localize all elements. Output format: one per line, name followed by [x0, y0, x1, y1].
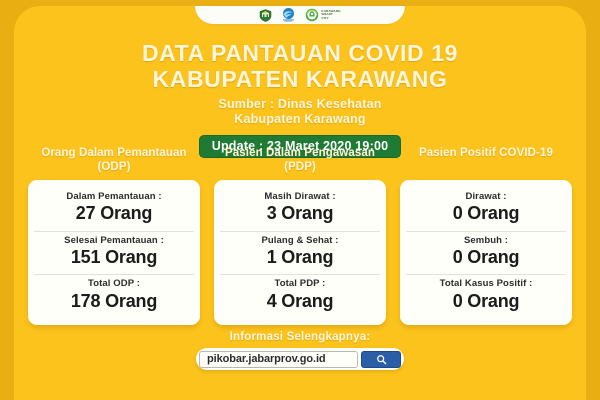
search-icon: [376, 354, 387, 365]
stat-label: Masih Dirawat :: [220, 191, 380, 202]
stat-label: Total Kasus Positif :: [406, 278, 566, 289]
stat-value: 178 Orang: [34, 291, 194, 312]
stat-value: 3 Orang: [220, 203, 380, 224]
stat-value: 0 Orang: [406, 203, 566, 224]
karawang-smart-city-caption: KARAWANG SMART CITY: [321, 10, 340, 20]
stat-label: Total ODP :: [34, 278, 194, 289]
column-odp-heading: Orang Dalam Pemantauan (ODP): [28, 146, 200, 176]
poster-title-line1: DATA PANTAUAN COVID 19: [14, 40, 586, 66]
stat-item-total: Total Kasus Positif : 0 Orang: [406, 274, 566, 316]
column-pdp: Pasien Dalam Pengawasan (PDP) Masih Dira…: [214, 146, 386, 325]
stat-label: Total PDP :: [220, 278, 380, 289]
logo-bar: KARAWANG SMART CITY: [195, 6, 405, 24]
stat-item: Pulang & Sehat : 1 Orang: [220, 231, 380, 273]
stat-item: Dalam Pemantauan : 27 Orang: [34, 188, 194, 229]
stat-value: 0 Orang: [406, 247, 566, 268]
stat-item-total: Total PDP : 4 Orang: [220, 274, 380, 316]
footer-label: Informasi Selengkapnya:: [14, 331, 586, 343]
column-positif-panel: Dirawat : 0 Orang Sembuh : 0 Orang Total…: [400, 180, 572, 325]
poster-card: KARAWANG SMART CITY DATA PANTAUAN COVID …: [14, 6, 586, 400]
search-input[interactable]: pikobar.jabarprov.go.id: [199, 351, 358, 368]
stat-value: 151 Orang: [34, 247, 194, 268]
poster-title-line2: KABUPATEN KARAWANG: [14, 66, 586, 92]
stat-item: Selesai Pemantauan : 151 Orang: [34, 231, 194, 273]
search-bar[interactable]: pikobar.jabarprov.go.id: [196, 348, 404, 370]
stat-value: 4 Orang: [220, 291, 380, 312]
title-block: DATA PANTAUAN COVID 19 KABUPATEN KARAWAN…: [14, 40, 586, 158]
stats-columns: Orang Dalam Pemantauan (ODP) Dalam Peman…: [28, 146, 572, 325]
kabupaten-karawang-emblem-icon: [259, 9, 272, 22]
stat-value: 27 Orang: [34, 203, 194, 224]
karawang-smart-city-logo-icon: KARAWANG SMART CITY: [305, 8, 340, 22]
footer-block: Informasi Selengkapnya: pikobar.jabarpro…: [14, 331, 586, 370]
column-positif-heading: Pasien Positif COVID-19: [419, 146, 553, 176]
stat-item-total: Total ODP : 178 Orang: [34, 274, 194, 316]
stat-value: 1 Orang: [220, 247, 380, 268]
stat-item: Sembuh : 0 Orang: [406, 231, 566, 273]
stat-item: Dirawat : 0 Orang: [406, 188, 566, 229]
pemda-wave-logo-icon: [281, 7, 296, 22]
column-positif: Pasien Positif COVID-19 Dirawat : 0 Oran…: [400, 146, 572, 325]
column-odp: Orang Dalam Pemantauan (ODP) Dalam Peman…: [28, 146, 200, 325]
source-line-1: Sumber : Dinas Kesehatan: [14, 97, 586, 112]
column-odp-panel: Dalam Pemantauan : 27 Orang Selesai Pema…: [28, 180, 200, 325]
column-pdp-panel: Masih Dirawat : 3 Orang Pulang & Sehat :…: [214, 180, 386, 325]
column-pdp-heading: Pasien Dalam Pengawasan (PDP): [214, 146, 386, 176]
stat-label: Dirawat :: [406, 191, 566, 202]
stat-item: Masih Dirawat : 3 Orang: [220, 188, 380, 229]
stat-label: Selesai Pemantauan :: [34, 235, 194, 246]
stat-label: Sembuh :: [406, 235, 566, 246]
stat-label: Pulang & Sehat :: [220, 235, 380, 246]
stat-label: Dalam Pemantauan :: [34, 191, 194, 202]
search-button[interactable]: [361, 351, 401, 368]
poster-root: KARAWANG SMART CITY DATA PANTAUAN COVID …: [0, 0, 600, 400]
source-line-2: Kabupaten Karawang: [14, 112, 586, 127]
stat-value: 0 Orang: [406, 291, 566, 312]
